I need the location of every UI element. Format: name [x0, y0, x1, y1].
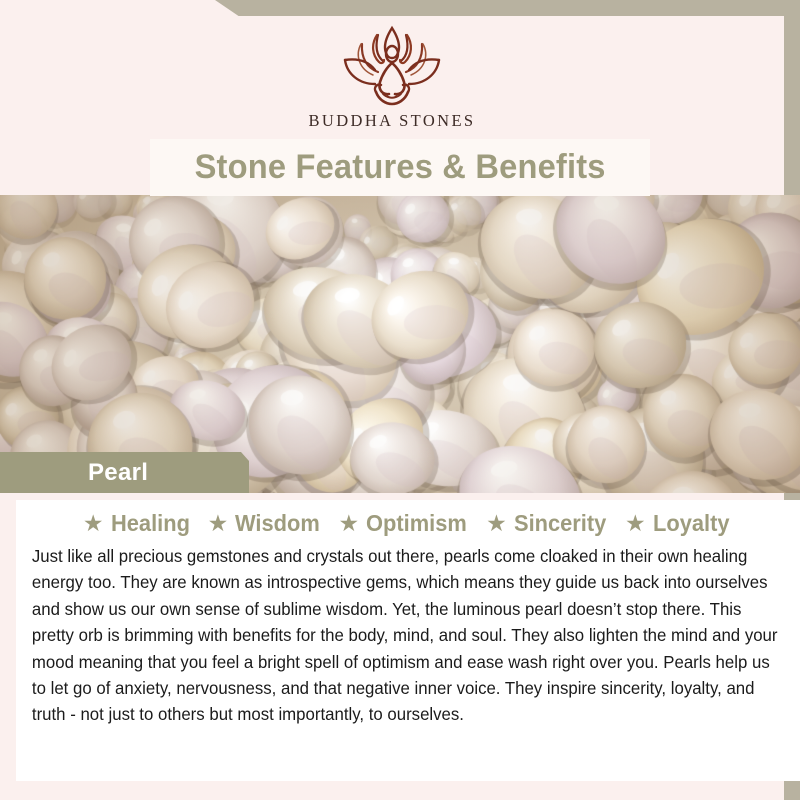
- brand-name: BUDDHA STONES: [308, 111, 475, 131]
- star-icon: ★: [83, 512, 104, 535]
- benefit-item: ★Wisdom: [208, 510, 325, 537]
- pearl-photo-canvas: [0, 195, 800, 493]
- description-text: Just like all precious gemstones and cry…: [30, 540, 788, 728]
- description-panel: ★Healing★Wisdom★Optimism★Sincerity★Loyal…: [16, 500, 800, 781]
- frame-notch-decoration: [0, 0, 240, 17]
- stone-name-bar: Pearl: [0, 452, 249, 493]
- star-icon: ★: [208, 512, 229, 535]
- page-title-box: Stone Features & Benefits: [150, 139, 650, 196]
- benefit-label: Loyalty: [653, 510, 730, 537]
- benefit-label: Sincerity: [514, 510, 606, 537]
- benefit-label: Wisdom: [235, 510, 320, 537]
- benefit-label: Optimism: [366, 510, 467, 537]
- stone-name-label: Pearl: [88, 459, 148, 487]
- star-icon: ★: [625, 512, 646, 535]
- pearl-photo: [0, 195, 800, 493]
- benefit-item: ★Sincerity: [486, 510, 611, 537]
- lotus-meditation-icon: [333, 22, 451, 108]
- benefit-item: ★Optimism: [338, 510, 472, 537]
- benefits-row: ★Healing★Wisdom★Optimism★Sincerity★Loyal…: [30, 500, 786, 540]
- benefit-item: ★Healing: [83, 510, 194, 537]
- benefit-label: Healing: [111, 510, 190, 537]
- page-title: Stone Features & Benefits: [194, 148, 605, 187]
- benefit-item: ★Loyalty: [625, 510, 733, 537]
- star-icon: ★: [486, 512, 507, 535]
- star-icon: ★: [338, 512, 359, 535]
- brand-logo-block: BUDDHA STONES: [0, 22, 784, 140]
